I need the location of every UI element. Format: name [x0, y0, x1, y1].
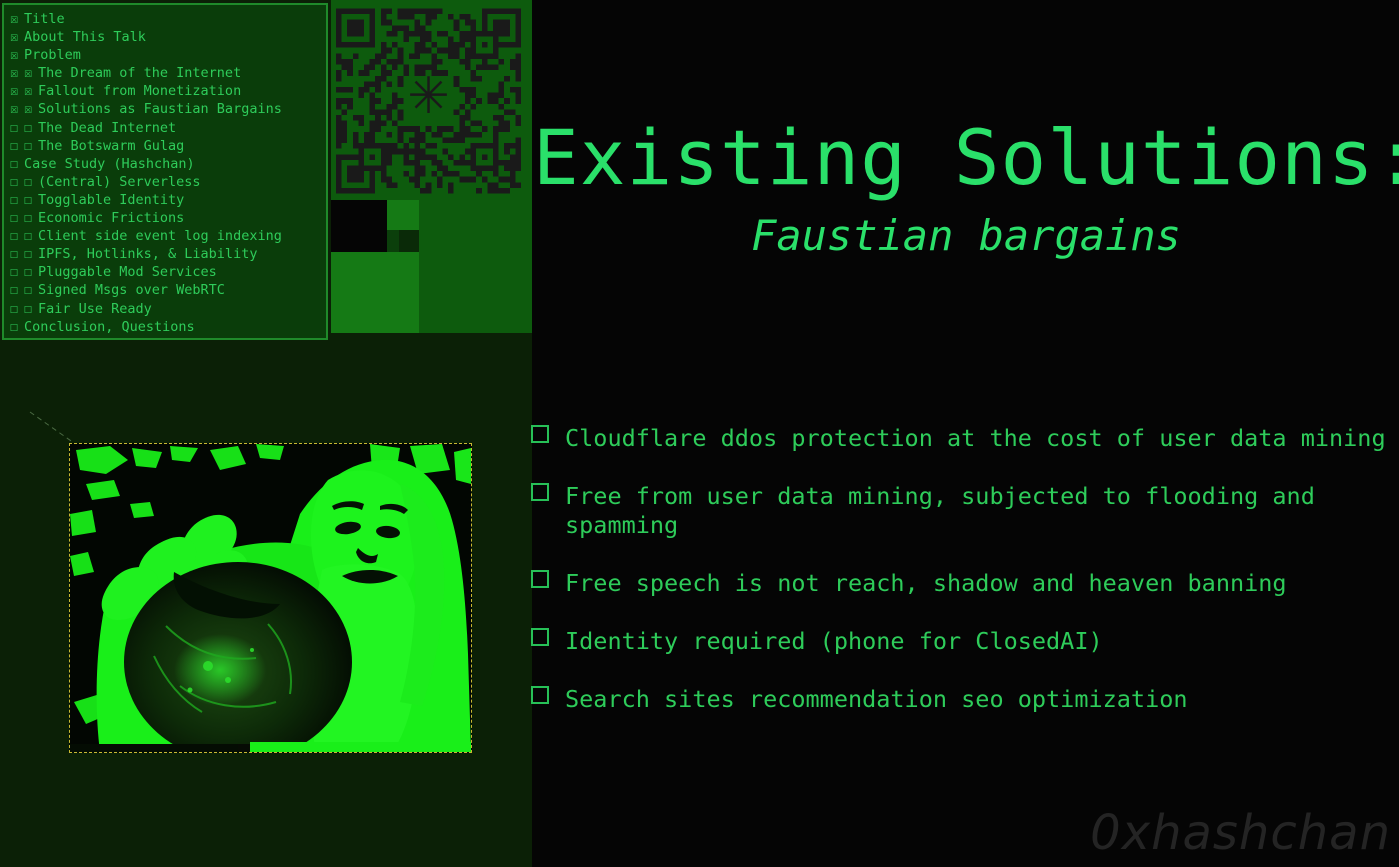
empty-checkbox-icon — [531, 686, 549, 704]
unchecked-box-icon: ☐ — [24, 191, 33, 209]
unchecked-box-icon: ☐ — [24, 227, 33, 245]
unchecked-box-icon: ☐ — [10, 137, 19, 155]
unchecked-box-icon: ☐ — [24, 209, 33, 227]
toc-item[interactable]: ☐☐Signed Msgs over WebRTC — [10, 281, 322, 299]
toc-item[interactable]: ☒Title — [10, 10, 322, 28]
color-blocks — [331, 200, 532, 333]
toc-item[interactable]: ☐☐Economic Frictions — [10, 209, 322, 227]
toc-item-label: About This Talk — [24, 28, 146, 46]
unchecked-box-icon: ☐ — [24, 300, 33, 318]
toc-item[interactable]: ☐☐(Central) Serverless — [10, 173, 322, 191]
slide-title: Existing Solutions: — [533, 112, 1399, 204]
checked-box-icon: ☒ — [10, 64, 19, 82]
unchecked-box-icon: ☐ — [24, 263, 33, 281]
qr-code-region: ✳ — [331, 0, 532, 333]
toc-item[interactable]: ☐☐The Dead Internet — [10, 119, 322, 137]
toc-item[interactable]: ☐☐Togglable Identity — [10, 191, 322, 209]
unchecked-box-icon: ☐ — [24, 119, 33, 137]
toc-item[interactable]: ☐Case Study (Hashchan) — [10, 155, 322, 173]
bullet-text: Search sites recommendation seo optimiza… — [565, 685, 1393, 714]
unchecked-box-icon: ☐ — [10, 155, 19, 173]
toc-item[interactable]: ☒About This Talk — [10, 28, 322, 46]
toc-item-label: Case Study (Hashchan) — [24, 155, 195, 173]
bullet-text: Identity required (phone for ClosedAI) — [565, 627, 1393, 656]
unchecked-box-icon: ☐ — [10, 209, 19, 227]
checked-box-icon: ☒ — [24, 100, 33, 118]
slide-root: ☒Title☒About This Talk☒Problem☒☒The Drea… — [0, 0, 1399, 867]
toc-item[interactable]: ☒Problem — [10, 46, 322, 64]
toc-item[interactable]: ☐☐Fair Use Ready — [10, 300, 322, 318]
empty-checkbox-icon — [531, 628, 549, 646]
toc-item[interactable]: ☒☒Fallout from Monetization — [10, 82, 322, 100]
toc-item-label: (Central) Serverless — [38, 173, 201, 191]
unchecked-box-icon: ☐ — [10, 173, 19, 191]
unchecked-box-icon: ☐ — [10, 318, 19, 336]
bullet-item: Free speech is not reach, shadow and hea… — [531, 569, 1393, 598]
toc-item-label: Problem — [24, 46, 81, 64]
toc-item-label: The Dream of the Internet — [38, 64, 241, 82]
checked-box-icon: ☒ — [10, 46, 19, 64]
toc-item[interactable]: ☐☐IPFS, Hotlinks, & Liability — [10, 245, 322, 263]
checked-box-icon: ☒ — [10, 28, 19, 46]
toc-item-label: The Dead Internet — [38, 119, 176, 137]
empty-checkbox-icon — [531, 570, 549, 588]
empty-checkbox-icon — [531, 483, 549, 501]
unchecked-box-icon: ☐ — [10, 191, 19, 209]
checked-box-icon: ☒ — [10, 10, 19, 28]
toc-item-label: Client side event log indexing — [38, 227, 282, 245]
qr-code[interactable]: ✳ — [336, 8, 521, 194]
bullet-text: Free speech is not reach, shadow and hea… — [565, 569, 1393, 598]
table-of-contents[interactable]: ☒Title☒About This Talk☒Problem☒☒The Drea… — [2, 3, 328, 340]
toc-item-label: Togglable Identity — [38, 191, 184, 209]
checked-box-icon: ☒ — [24, 82, 33, 100]
unchecked-box-icon: ☐ — [10, 245, 19, 263]
toc-item-label: Signed Msgs over WebRTC — [38, 281, 225, 299]
toc-item-label: Conclusion, Questions — [24, 318, 195, 336]
slide-subtitle: Faustian bargains — [533, 210, 1399, 262]
checked-box-icon: ☒ — [10, 82, 19, 100]
wizard-photo[interactable] — [69, 443, 472, 753]
toc-item-label: Title — [24, 10, 65, 28]
bullet-text: Free from user data mining, subjected to… — [565, 482, 1393, 540]
toc-item[interactable]: ☒☒The Dream of the Internet — [10, 64, 322, 82]
unchecked-box-icon: ☐ — [10, 227, 19, 245]
unchecked-box-icon: ☐ — [10, 119, 19, 137]
toc-item-label: The Botswarm Gulag — [38, 137, 184, 155]
toc-item-label: Fair Use Ready — [38, 300, 152, 318]
toc-item-label: Fallout from Monetization — [38, 82, 241, 100]
bullet-item: Cloudflare ddos protection at the cost o… — [531, 424, 1393, 453]
unchecked-box-icon: ☐ — [24, 245, 33, 263]
toc-item[interactable]: ☐☐Pluggable Mod Services — [10, 263, 322, 281]
unchecked-box-icon: ☐ — [10, 281, 19, 299]
unchecked-box-icon: ☐ — [10, 263, 19, 281]
unchecked-box-icon: ☐ — [24, 281, 33, 299]
bullet-list: Cloudflare ddos protection at the cost o… — [531, 424, 1393, 743]
bullet-item: Search sites recommendation seo optimiza… — [531, 685, 1393, 714]
qr-center-logo-icon: ✳ — [407, 66, 449, 125]
toc-item-label: IPFS, Hotlinks, & Liability — [38, 245, 257, 263]
watermark: 0xhashchan — [1090, 805, 1391, 861]
checked-box-icon: ☒ — [24, 64, 33, 82]
unchecked-box-icon: ☐ — [24, 173, 33, 191]
toc-item-label: Economic Frictions — [38, 209, 184, 227]
checked-box-icon: ☒ — [10, 100, 19, 118]
bullet-text: Cloudflare ddos protection at the cost o… — [565, 424, 1393, 453]
toc-item-label: Pluggable Mod Services — [38, 263, 217, 281]
toc-item[interactable]: ☐☐Client side event log indexing — [10, 227, 322, 245]
toc-item[interactable]: ☒☒Solutions as Faustian Bargains — [10, 100, 322, 118]
unchecked-box-icon: ☐ — [10, 300, 19, 318]
toc-item[interactable]: ☐Conclusion, Questions — [10, 318, 322, 336]
bullet-item: Identity required (phone for ClosedAI) — [531, 627, 1393, 656]
toc-item[interactable]: ☐☐The Botswarm Gulag — [10, 137, 322, 155]
unchecked-box-icon: ☐ — [24, 137, 33, 155]
empty-checkbox-icon — [531, 425, 549, 443]
bullet-item: Free from user data mining, subjected to… — [531, 482, 1393, 540]
toc-item-label: Solutions as Faustian Bargains — [38, 100, 282, 118]
